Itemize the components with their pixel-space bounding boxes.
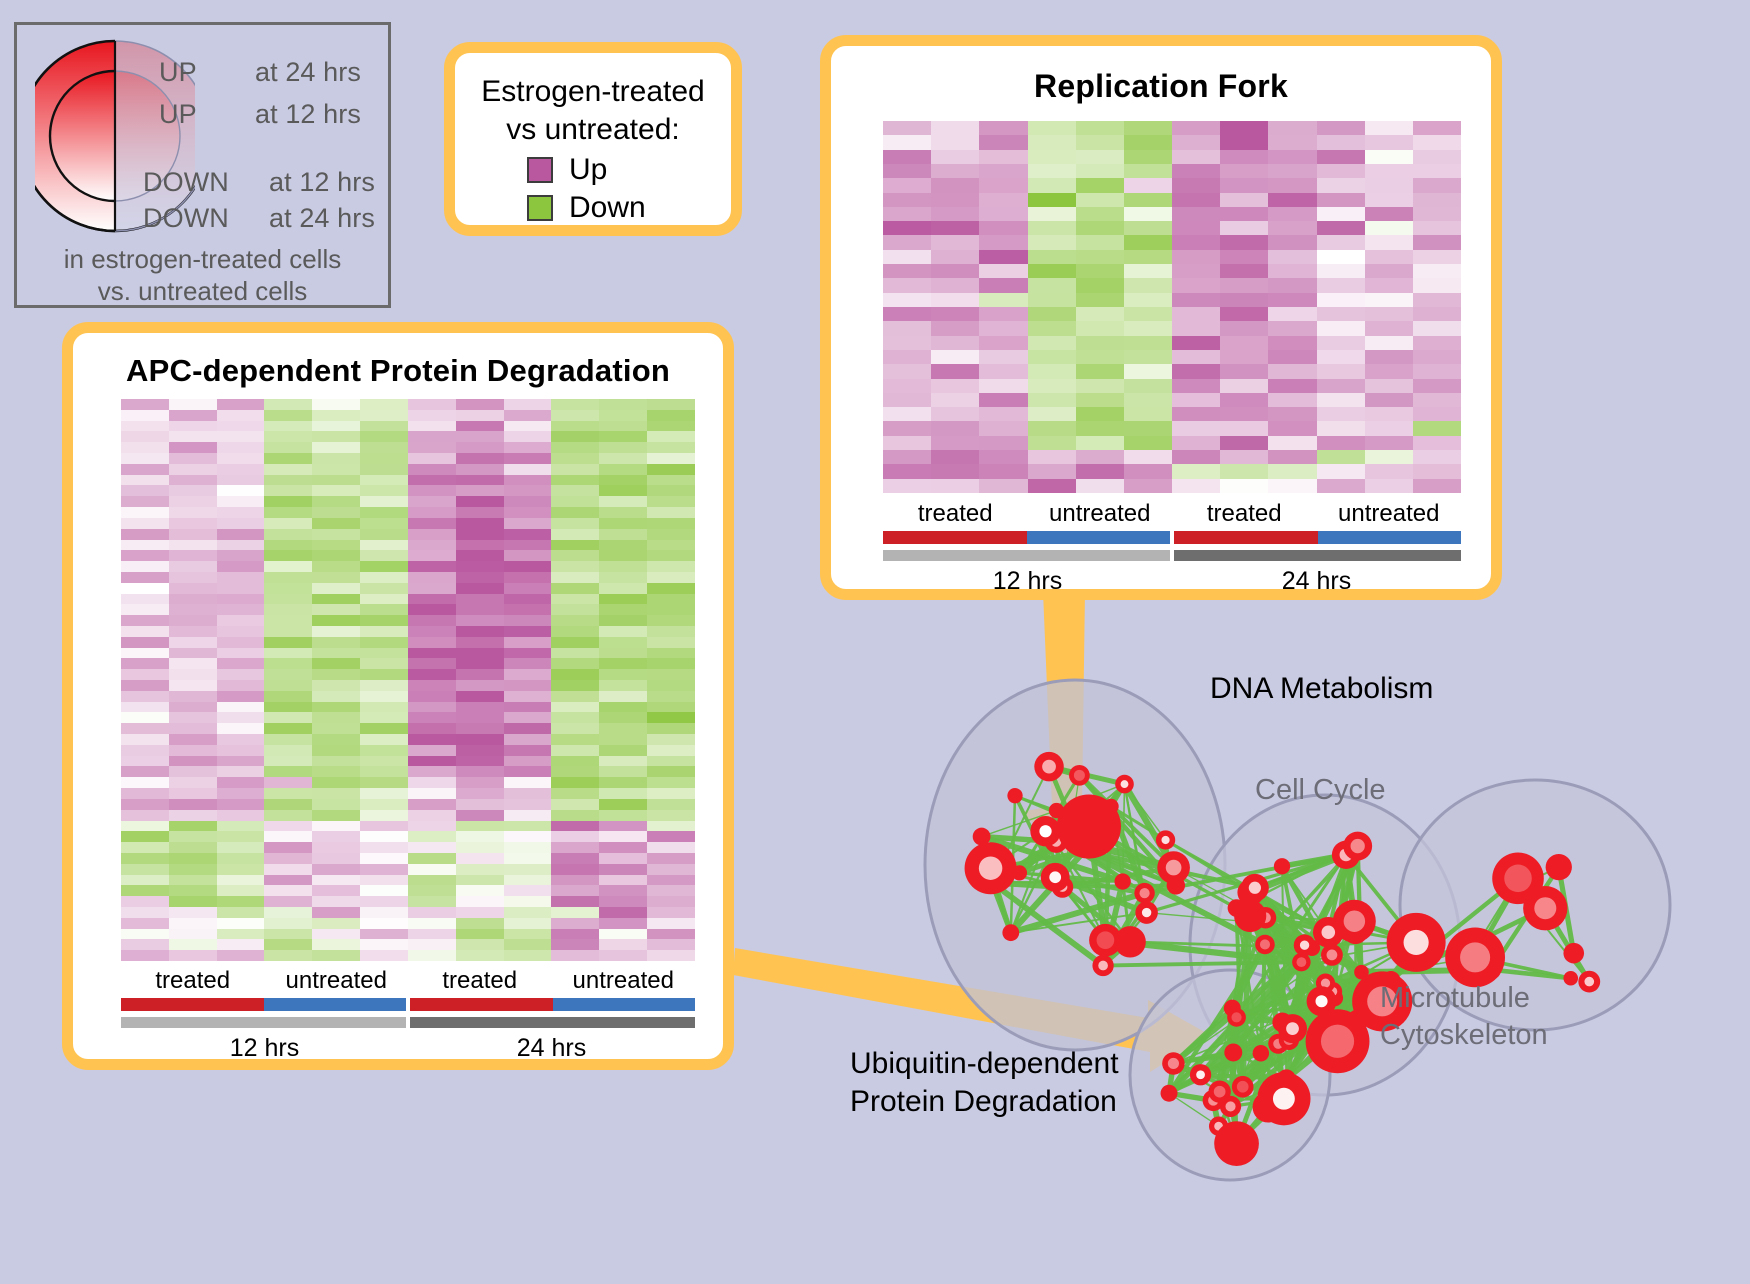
heatmap-cell [599, 939, 647, 950]
heatmap-cell [647, 842, 695, 853]
heatmap-cell [1028, 121, 1076, 135]
network-node [1224, 1043, 1242, 1061]
heatmap-cell [1268, 407, 1316, 421]
heatmap-cell [121, 453, 169, 464]
heatmap-cell [599, 907, 647, 918]
heatmap-cell [1365, 379, 1413, 393]
time-label-row: 12 hrs24 hrs [883, 567, 1461, 595]
heatmap-cell [217, 669, 265, 680]
heatmap-cell [121, 572, 169, 583]
heatmap-cell [1028, 379, 1076, 393]
heatmap-cell [456, 583, 504, 594]
heatmap-cell [217, 496, 265, 507]
heatmap-cell [599, 572, 647, 583]
network-node-core [1168, 1058, 1179, 1069]
heatmap-cell [647, 702, 695, 713]
heatmap-cell [217, 561, 265, 572]
heatmap-cell [264, 518, 312, 529]
heatmap-cell [217, 572, 265, 583]
heatmap-cell [169, 864, 217, 875]
heatmap-cell [1268, 221, 1316, 235]
heatmap-cell [1413, 178, 1461, 192]
heatmap-cell [551, 669, 599, 680]
heatmap-cell [1172, 164, 1220, 178]
heatmap-cell [360, 669, 408, 680]
heatmap-cell [312, 929, 360, 940]
heatmap-cell [931, 121, 979, 135]
heatmap-cell [883, 336, 931, 350]
heatmap-cell [1365, 436, 1413, 450]
heatmap-cell [1124, 164, 1172, 178]
heatmap-cell [599, 929, 647, 940]
heatmap-cell [647, 680, 695, 691]
heatmap-cell [1268, 393, 1316, 407]
network-node-core [1139, 888, 1149, 898]
heatmap-cell [408, 745, 456, 756]
ring-legend-time-1: at 12 hrs [255, 99, 361, 130]
heatmap-cell [647, 929, 695, 940]
heatmap-cell [599, 810, 647, 821]
heatmap-cell [647, 734, 695, 745]
heatmap-cell [1220, 307, 1268, 321]
heatmap-cell [1172, 464, 1220, 478]
heatmap-cell [408, 756, 456, 767]
heatmap-cell [931, 393, 979, 407]
heatmap-cell [456, 939, 504, 950]
heatmap-cell [169, 442, 217, 453]
heatmap-cell [931, 235, 979, 249]
heatmap-cell [551, 875, 599, 886]
treated-bar [1174, 531, 1318, 544]
heatmap-cell [1365, 479, 1413, 493]
heatmap-cell [408, 821, 456, 832]
heatmap-cell [1172, 293, 1220, 307]
heatmap-cell [1317, 121, 1365, 135]
heatmap-cell [408, 550, 456, 561]
heatmap-cell [504, 875, 552, 886]
heatmap-cell [312, 637, 360, 648]
heatmap-cell [647, 896, 695, 907]
heatmap-cell [408, 399, 456, 410]
heatmap-cell [312, 831, 360, 842]
key-item-up: Up [527, 155, 607, 185]
heatmap-cell [647, 604, 695, 615]
heatmap-cell [456, 896, 504, 907]
heatmap-cell [121, 561, 169, 572]
heatmap-cell [883, 150, 931, 164]
heatmap-cell [264, 572, 312, 583]
heatmap-cell [1365, 221, 1413, 235]
heatmap-cell [1268, 193, 1316, 207]
heatmap-cell [360, 788, 408, 799]
heatmap-cell [408, 885, 456, 896]
network-node-core [1344, 910, 1365, 931]
heatmap-cell [264, 810, 312, 821]
heatmap-cell [408, 680, 456, 691]
heatmap-cell [1076, 250, 1124, 264]
heatmap-cell [121, 842, 169, 853]
heatmap-cell [979, 264, 1027, 278]
heatmap-cell [647, 669, 695, 680]
heatmap-cell [551, 702, 599, 713]
up-down-key-panel: Estrogen-treated vs untreated: Up Down [444, 42, 742, 236]
heatmap-cell [456, 810, 504, 821]
heatmap-cell [504, 712, 552, 723]
heatmap-cell [1028, 278, 1076, 292]
heatmap-cell [121, 864, 169, 875]
heatmap-cell [647, 583, 695, 594]
heatmap-cell [217, 766, 265, 777]
heatmap-cell [647, 712, 695, 723]
untreated-bar [1027, 531, 1171, 544]
heatmap-cell [360, 658, 408, 669]
network-node-core [1322, 925, 1336, 939]
heatmap-cell [408, 950, 456, 961]
heatmap-cell [1172, 336, 1220, 350]
heatmap-cell [312, 810, 360, 821]
heatmap-cell [408, 518, 456, 529]
heatmap-cell [1220, 293, 1268, 307]
heatmap-cell [504, 734, 552, 745]
heatmap-cell [456, 788, 504, 799]
heatmap-cell [264, 648, 312, 659]
heatmap-cell [551, 766, 599, 777]
heatmap-cell [312, 680, 360, 691]
heatmap-cell [121, 604, 169, 615]
heatmap-cell [647, 810, 695, 821]
heatmap-cell [1317, 436, 1365, 450]
heatmap-cell [1076, 436, 1124, 450]
heatmap-cell [551, 821, 599, 832]
heatmap-cell [1124, 321, 1172, 335]
panel-replication-fork: Replication Fork treateduntreatedtreated… [820, 35, 1502, 600]
heatmap-cell [456, 885, 504, 896]
heatmap-cell [979, 193, 1027, 207]
heatmap-cell [169, 734, 217, 745]
heatmap-cell [1365, 464, 1413, 478]
untreated-bar [1318, 531, 1462, 544]
heatmap-cell [169, 648, 217, 659]
heatmap-cell [408, 691, 456, 702]
heatmap-cell [1220, 450, 1268, 464]
heatmap-cell [217, 918, 265, 929]
heatmap-cell [456, 766, 504, 777]
heatmap-cell [504, 723, 552, 734]
heatmap-cell [408, 615, 456, 626]
heatmap-cell [979, 278, 1027, 292]
heatmap-cell [360, 766, 408, 777]
heatmap-cell [1172, 364, 1220, 378]
heatmap-cell [551, 842, 599, 853]
heatmap-cell [217, 442, 265, 453]
heatmap-cell [1413, 379, 1461, 393]
heatmap-cell [121, 550, 169, 561]
heatmap-cell [217, 399, 265, 410]
heatmap-cell [121, 680, 169, 691]
heatmap-cell [504, 950, 552, 961]
heatmap-cell [883, 479, 931, 493]
heatmap-cell [599, 496, 647, 507]
heatmap-cell [1220, 421, 1268, 435]
network-node-core [1196, 1070, 1205, 1079]
heatmap-cell [1413, 235, 1461, 249]
heatmap-cell [312, 604, 360, 615]
network-node-core [1504, 865, 1532, 893]
network-node-core [1534, 897, 1556, 919]
heatmap-cell [1268, 450, 1316, 464]
heatmap-cell [121, 518, 169, 529]
heatmap-cell [1317, 393, 1365, 407]
heatmap-cell [647, 788, 695, 799]
heatmap-cell [169, 561, 217, 572]
panel-title-replication-fork: Replication Fork [831, 68, 1491, 105]
heatmap-cell [551, 518, 599, 529]
heatmap-cell [217, 410, 265, 421]
heatmap-cell [169, 756, 217, 767]
heatmap-cell [1076, 135, 1124, 149]
heatmap-cell [264, 540, 312, 551]
pathway-network-diagram: DNA Metabolism Cell Cycle MicrotubuleCyt… [780, 620, 1750, 1279]
heatmap-cell [408, 907, 456, 918]
heatmap-cell [1268, 121, 1316, 135]
heatmap-cell [504, 453, 552, 464]
heatmap-cell [1172, 150, 1220, 164]
heatmap-cell [1365, 321, 1413, 335]
heatmap-cell [408, 799, 456, 810]
heatmap-cell [1172, 207, 1220, 221]
heatmap-cell [456, 550, 504, 561]
heatmap-cell [1268, 436, 1316, 450]
heatmap-cell [647, 831, 695, 842]
heatmap-cell [931, 479, 979, 493]
heatmap-cell [979, 421, 1027, 435]
heatmap-cell [599, 637, 647, 648]
heatmap-cell [312, 885, 360, 896]
network-node-core [1098, 961, 1108, 971]
heatmap-cell [169, 691, 217, 702]
heatmap-cell [551, 756, 599, 767]
heatmap-cell [456, 572, 504, 583]
heatmap-cell [360, 507, 408, 518]
heatmap-cell [121, 950, 169, 961]
heatmap-cell [169, 540, 217, 551]
heatmap-cell [360, 464, 408, 475]
heatmap-cell [360, 734, 408, 745]
heatmap-cell [1268, 135, 1316, 149]
heatmap-cell [1076, 150, 1124, 164]
heatmap-cell [1317, 307, 1365, 321]
heatmap-cell [217, 464, 265, 475]
heatmap-cell [456, 507, 504, 518]
heatmap-cell [1076, 321, 1124, 335]
heatmap-cell [883, 450, 931, 464]
heatmap-cell [312, 734, 360, 745]
heatmap-cell [264, 658, 312, 669]
heatmap-cell [217, 853, 265, 864]
heatmap-cell [551, 421, 599, 432]
heatmap-cell [883, 278, 931, 292]
heatmap-cell [931, 407, 979, 421]
heatmap-cell [599, 712, 647, 723]
heatmap-cell [1028, 135, 1076, 149]
heatmap-cell [883, 307, 931, 321]
heatmap-cell [1220, 178, 1268, 192]
heatmap-cell [883, 121, 931, 135]
figure-canvas: UP at 24 hrs UP at 12 hrs DOWN at 12 hrs… [0, 0, 1750, 1279]
heatmap-cell [599, 788, 647, 799]
heatmap-cell [264, 507, 312, 518]
heatmap-cell [599, 831, 647, 842]
heatmap-cell [456, 680, 504, 691]
heatmap-cell [979, 307, 1027, 321]
time-bar-12-hrs [883, 550, 1170, 561]
heatmap-cell [217, 864, 265, 875]
heatmap-cell [360, 712, 408, 723]
heatmap-cell [169, 799, 217, 810]
heatmap-cell [360, 540, 408, 551]
heatmap-cell [408, 842, 456, 853]
heatmap-cell [456, 929, 504, 940]
heatmap-cell [264, 885, 312, 896]
heatmap-cell [551, 604, 599, 615]
heatmap-cell [1413, 393, 1461, 407]
time-bar-12-hrs [121, 1017, 406, 1028]
heatmap-cell [504, 702, 552, 713]
heatmap-cell [360, 550, 408, 561]
heatmap-cell [264, 475, 312, 486]
heatmap-cell [312, 939, 360, 950]
heatmap-cell [217, 875, 265, 886]
sample-label-untreated-1: untreated [265, 968, 409, 994]
heatmap-cell [121, 723, 169, 734]
heatmap-cell [312, 453, 360, 464]
heatmap-cell [1365, 164, 1413, 178]
heatmap-cell [456, 950, 504, 961]
heatmap-cell [1124, 479, 1172, 493]
panel-title-apc: APC-dependent Protein Degradation [73, 353, 723, 389]
heatmap-cell [551, 485, 599, 496]
heatmap-cell [408, 702, 456, 713]
heatmap-cell [504, 788, 552, 799]
sample-label-treated-0: treated [121, 968, 265, 994]
heatmap-cell [599, 550, 647, 561]
heatmap-cell [169, 810, 217, 821]
heatmap-cell [551, 734, 599, 745]
heatmap-cell [1220, 135, 1268, 149]
network-node [1234, 900, 1266, 932]
heatmap-cell [599, 475, 647, 486]
heatmap-cell [647, 777, 695, 788]
heatmap-cell [264, 615, 312, 626]
heatmap-cell [456, 637, 504, 648]
network-node-core [1121, 780, 1129, 788]
heatmap-cell [121, 734, 169, 745]
heatmap-cell [599, 648, 647, 659]
heatmap-cell [456, 658, 504, 669]
heatmap-cell [456, 821, 504, 832]
heatmap-cell [931, 436, 979, 450]
treated-bar [883, 531, 1027, 544]
heatmap-cell [169, 702, 217, 713]
heatmap-cell [599, 875, 647, 886]
heatmap-cell [647, 550, 695, 561]
network-node [1114, 873, 1130, 889]
network-node-core [1460, 942, 1490, 972]
heatmap-cell [121, 648, 169, 659]
heatmap-cell [883, 135, 931, 149]
heatmap-cell [931, 178, 979, 192]
heatmap-cell [169, 950, 217, 961]
heatmap-cell [217, 799, 265, 810]
heatmap-cell [1268, 321, 1316, 335]
heatmap-cell [360, 885, 408, 896]
heatmap-cell [360, 810, 408, 821]
heatmap-cell [169, 939, 217, 950]
heatmap-cell [121, 583, 169, 594]
heatmap-cell [1220, 207, 1268, 221]
heatmap-cell [1365, 250, 1413, 264]
heatmap-cell [551, 723, 599, 734]
heatmap-cell [1028, 293, 1076, 307]
heatmap-cell [1268, 479, 1316, 493]
network-graph [780, 620, 1750, 1279]
heatmap-cell [1172, 278, 1220, 292]
heatmap-cell [599, 691, 647, 702]
heatmap-cell [408, 788, 456, 799]
heatmap-cell [1268, 350, 1316, 364]
heatmap-cell [1028, 479, 1076, 493]
heatmap-cell [883, 164, 931, 178]
heatmap-cell [456, 799, 504, 810]
heatmap-cell [312, 950, 360, 961]
heatmap-cell [1317, 336, 1365, 350]
heatmap-cell [456, 421, 504, 432]
heatmap-cell [456, 723, 504, 734]
heatmap-cell [121, 929, 169, 940]
heatmap-cell [647, 691, 695, 702]
treatment-color-bar-row [121, 998, 695, 1011]
heatmap-cell [408, 918, 456, 929]
heatmap-cell [264, 864, 312, 875]
network-node-core [1273, 1088, 1295, 1110]
heatmap-cell [883, 193, 931, 207]
heatmap-cell [1413, 135, 1461, 149]
heatmap-cell [169, 399, 217, 410]
heatmap-cell [312, 550, 360, 561]
heatmap-cell [647, 572, 695, 583]
heatmap-cell [551, 572, 599, 583]
heatmap-cell [264, 745, 312, 756]
heatmap-cell [551, 831, 599, 842]
network-node-core [1237, 1081, 1249, 1093]
heatmap-cell [1220, 150, 1268, 164]
network-node [1274, 858, 1290, 874]
heatmap-cell [599, 410, 647, 421]
heatmap-cell [883, 364, 931, 378]
heatmap-cell [504, 615, 552, 626]
heatmap-cell [121, 853, 169, 864]
heatmap-cell [121, 615, 169, 626]
heatmap-cell [647, 658, 695, 669]
heatmap-cell [360, 561, 408, 572]
heatmap-cell [217, 788, 265, 799]
heatmap-cell [456, 669, 504, 680]
heatmap-cell [1413, 421, 1461, 435]
heatmap-cell [504, 540, 552, 551]
heatmap-cell [1220, 321, 1268, 335]
heatmap-cell [883, 379, 931, 393]
heatmap-cell [217, 475, 265, 486]
